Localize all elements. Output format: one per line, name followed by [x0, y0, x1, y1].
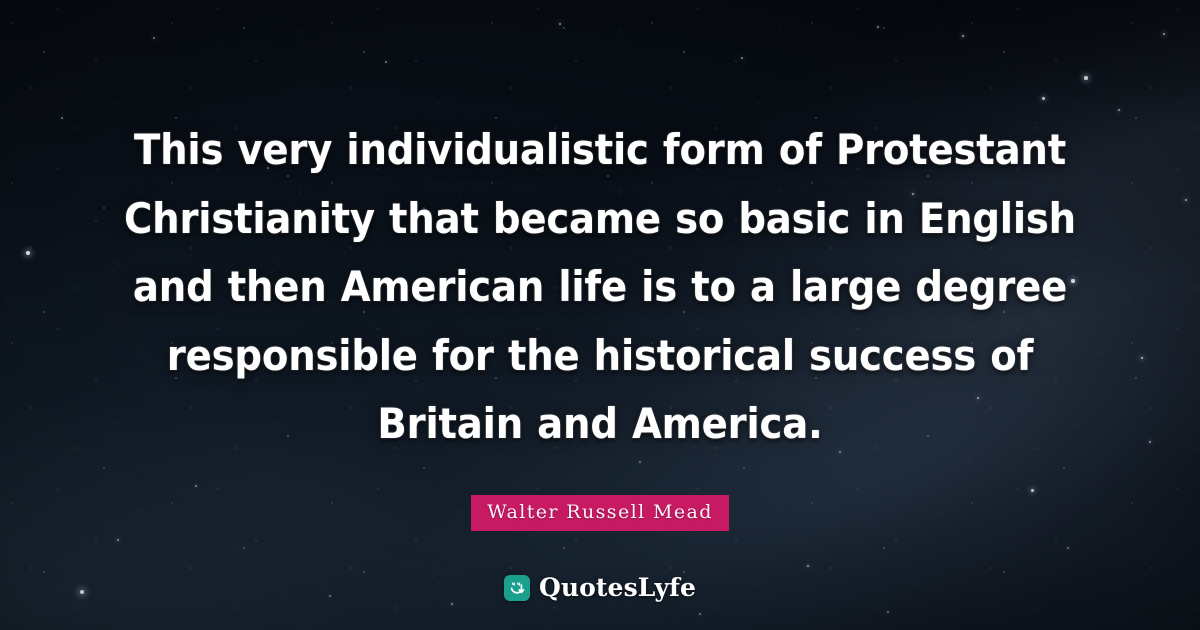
author-badge: Walter Russell Mead	[471, 495, 729, 531]
card-content: This very individualistic form of Protes…	[0, 0, 1200, 630]
quotes-smiley-icon	[504, 575, 530, 601]
quote-line: responsible for the historical success o…	[107, 322, 1093, 391]
quote-line: Britain and America.	[107, 390, 1093, 459]
quote-line: and then American life is to a large deg…	[107, 253, 1093, 322]
quote-text: This very individualistic form of Protes…	[107, 116, 1093, 459]
quote-card: This very individualistic form of Protes…	[0, 0, 1200, 630]
brand-name: QuotesLyfe	[539, 575, 696, 601]
author-name: Walter Russell Mead	[487, 500, 713, 524]
quote-line: Christianity that became so basic in Eng…	[107, 185, 1093, 254]
brand-lockup[interactable]: QuotesLyfe	[504, 575, 696, 601]
quote-line: This very individualistic form of Protes…	[107, 116, 1093, 185]
